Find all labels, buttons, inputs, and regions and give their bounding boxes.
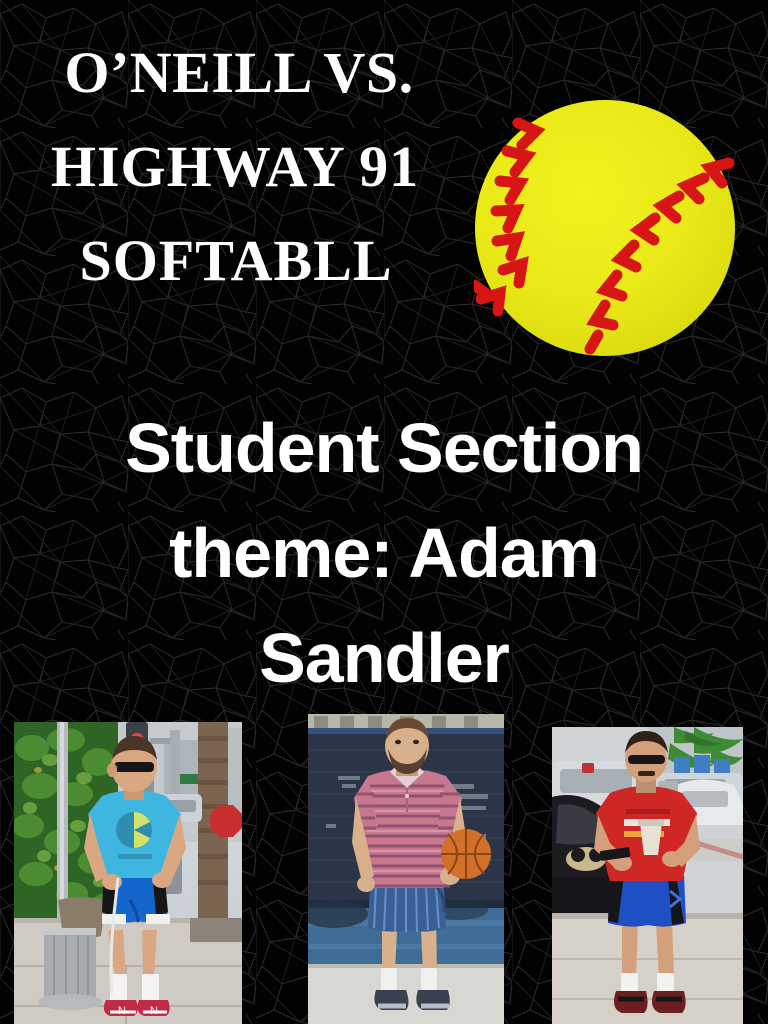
headline-line-2: HIGHWAY 91 xyxy=(0,120,470,214)
headline-line-1: O’NEILL VS. xyxy=(0,26,470,120)
photo-adam-sandler-striped-polo xyxy=(308,714,504,1024)
svg-text:N: N xyxy=(150,1005,158,1017)
softball-icon xyxy=(474,99,736,357)
poster-body-text: Student Section theme: Adam Sandler xyxy=(0,396,768,711)
headline-line-3: SOFTABLL xyxy=(0,214,470,308)
photo-adam-sandler-blue-shirt: N N xyxy=(14,722,242,1024)
svg-text:N: N xyxy=(118,1005,126,1017)
photo-adam-sandler-red-shirt xyxy=(552,727,743,1024)
body-line-2: theme: Adam xyxy=(38,501,730,606)
poster-headline: O’NEILL VS. HIGHWAY 91 SOFTABLL xyxy=(0,26,470,308)
poster-canvas: O’NEILL VS. HIGHWAY 91 SOFTABLL Student … xyxy=(0,0,768,1024)
body-line-3: Sandler xyxy=(38,606,730,711)
body-line-1: Student Section xyxy=(38,396,730,501)
